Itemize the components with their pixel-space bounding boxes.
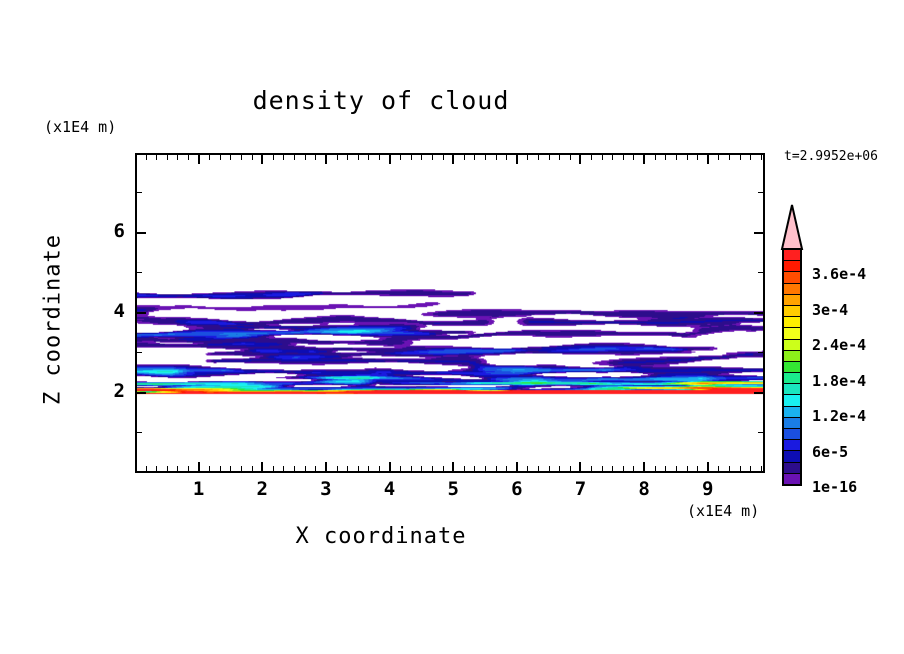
colorbar-band [784,384,800,395]
x-tick-label: 5 [441,478,465,500]
y-major-tick [136,232,146,234]
x-minor-tick [305,466,306,472]
x-minor-tick [729,466,730,472]
x-minor-tick [591,466,592,472]
x-major-tick [643,462,645,472]
colorbar-arrow-icon [778,203,806,251]
colorbar-band [784,373,800,384]
x-minor-tick [549,466,550,472]
x-major-tick-top [516,154,518,164]
figure-canvas: density of cloud (x1E4 m) t=2.9952e+06 1… [0,0,904,654]
x-minor-tick [347,466,348,472]
x-minor-tick-top [750,154,751,160]
x-minor-tick [167,466,168,472]
x-minor-tick [718,466,719,472]
x-minor-tick-top [400,154,401,160]
x-minor-tick-top [443,154,444,160]
x-minor-tick [623,466,624,472]
x-minor-tick-top [612,154,613,160]
x-minor-tick [527,466,528,472]
colorbar-band [784,429,800,440]
x-minor-tick [559,466,560,472]
colorbar-band [784,418,800,429]
x-minor-tick [464,466,465,472]
x-minor-tick-top [559,154,560,160]
time-annotation: t=2.9952e+06 [784,149,878,164]
x-minor-tick [602,466,603,472]
x-minor-tick-top [230,154,231,160]
y-axis-title: Z coordinate [41,205,66,435]
y-minor-tick-right [758,272,764,273]
colorbar-band [784,261,800,272]
x-minor-tick-top [729,154,730,160]
colorbar-bands [782,248,802,486]
colorbar-band [784,362,800,373]
y-tick-label: 2 [103,380,125,402]
x-minor-tick [687,466,688,472]
x-minor-tick-top [220,154,221,160]
x-minor-tick-top [358,154,359,160]
x-minor-tick [538,466,539,472]
x-major-tick-top [261,154,263,164]
plot-title: density of cloud [0,86,762,115]
x-minor-tick [443,466,444,472]
x-minor-tick-top [432,154,433,160]
colorbar[interactable] [778,203,806,486]
colorbar-band [784,295,800,306]
colorbar-band [784,407,800,418]
x-minor-tick-top [687,154,688,160]
y-minor-tick [136,432,142,433]
y-major-tick-right [754,392,764,394]
x-minor-tick-top [623,154,624,160]
colorbar-band [784,250,800,261]
x-major-tick-top [579,154,581,164]
x-minor-tick-top [273,154,274,160]
x-major-tick-top [452,154,454,164]
x-minor-tick-top [347,154,348,160]
x-minor-tick [506,466,507,472]
x-minor-tick-top [538,154,539,160]
y-minor-tick [136,352,142,353]
x-tick-label: 9 [696,478,720,500]
x-minor-tick [761,466,762,472]
y-minor-tick-right [758,352,764,353]
x-minor-tick [315,466,316,472]
colorbar-tick-label: 1e-16 [812,478,857,496]
x-minor-tick [368,466,369,472]
x-axis-title: X coordinate [0,524,762,549]
colorbar-tick-label: 1.2e-4 [812,407,866,425]
y-tick-label: 6 [103,220,125,242]
x-minor-tick [400,466,401,472]
x-tick-label: 1 [187,478,211,500]
x-minor-tick-top [527,154,528,160]
x-minor-tick-top [146,154,147,160]
x-minor-tick-top [665,154,666,160]
x-minor-tick-top [549,154,550,160]
x-minor-tick [294,466,295,472]
x-axis-unit-label: (x1E4 m) [687,502,759,520]
x-major-tick-top [198,154,200,164]
x-major-tick-top [643,154,645,164]
colorbar-band [784,328,800,339]
x-minor-tick [474,466,475,472]
x-minor-tick [358,466,359,472]
colorbar-tick-label: 2.4e-4 [812,336,866,354]
y-minor-tick [136,192,142,193]
x-tick-label: 6 [505,478,529,500]
x-minor-tick-top [496,154,497,160]
colorbar-band [784,351,800,362]
colorbar-band [784,272,800,283]
x-major-tick [452,462,454,472]
x-minor-tick-top [379,154,380,160]
x-minor-tick-top [655,154,656,160]
y-major-tick [136,392,146,394]
x-minor-tick-top [421,154,422,160]
x-major-tick [261,462,263,472]
colorbar-band [784,284,800,295]
x-major-tick [707,462,709,472]
x-minor-tick-top [305,154,306,160]
x-minor-tick [209,466,210,472]
y-axis-unit-label: (x1E4 m) [44,118,116,136]
x-major-tick [389,462,391,472]
x-minor-tick [676,466,677,472]
x-minor-tick [570,466,571,472]
x-minor-tick-top [167,154,168,160]
x-tick-label: 3 [314,478,338,500]
x-minor-tick [283,466,284,472]
x-minor-tick-top [411,154,412,160]
y-major-tick [136,312,146,314]
plot-area[interactable] [135,153,765,473]
colorbar-tick-label: 3e-4 [812,301,848,319]
x-minor-tick [379,466,380,472]
x-minor-tick-top [241,154,242,160]
x-minor-tick-top [209,154,210,160]
x-minor-tick-top [294,154,295,160]
x-minor-tick [750,466,751,472]
y-tick-label: 4 [103,300,125,322]
x-major-tick [579,462,581,472]
colorbar-band [784,451,800,462]
x-minor-tick-top [315,154,316,160]
x-minor-tick-top [740,154,741,160]
x-minor-tick-top [283,154,284,160]
x-minor-tick [241,466,242,472]
x-minor-tick [485,466,486,472]
x-minor-tick-top [697,154,698,160]
x-major-tick-top [389,154,391,164]
x-minor-tick [665,466,666,472]
contour-field [137,155,763,471]
x-minor-tick-top [368,154,369,160]
x-tick-label: 7 [568,478,592,500]
x-minor-tick [273,466,274,472]
x-minor-tick-top [156,154,157,160]
colorbar-tick-label: 6e-5 [812,443,848,461]
x-minor-tick-top [676,154,677,160]
x-minor-tick-top [474,154,475,160]
y-minor-tick-right [758,432,764,433]
x-minor-tick-top [602,154,603,160]
y-major-tick-right [754,232,764,234]
colorbar-band [784,340,800,351]
x-major-tick-top [325,154,327,164]
x-minor-tick-top [506,154,507,160]
x-minor-tick [220,466,221,472]
x-major-tick [198,462,200,472]
y-minor-tick [136,272,142,273]
x-minor-tick-top [591,154,592,160]
y-minor-tick-right [758,192,764,193]
colorbar-tick-label: 3.6e-4 [812,265,866,283]
x-minor-tick [655,466,656,472]
x-minor-tick-top [337,154,338,160]
x-minor-tick-top [570,154,571,160]
x-major-tick [325,462,327,472]
colorbar-band [784,440,800,451]
x-minor-tick-top [188,154,189,160]
x-minor-tick [156,466,157,472]
x-minor-tick-top [718,154,719,160]
x-tick-label: 2 [250,478,274,500]
x-minor-tick [337,466,338,472]
x-minor-tick [188,466,189,472]
y-major-tick-right [754,312,764,314]
x-minor-tick-top [464,154,465,160]
x-minor-tick-top [761,154,762,160]
colorbar-band [784,317,800,328]
x-minor-tick [612,466,613,472]
x-tick-label: 4 [378,478,402,500]
colorbar-band [784,474,800,484]
x-minor-tick [146,466,147,472]
x-major-tick [516,462,518,472]
x-minor-tick [177,466,178,472]
x-minor-tick-top [177,154,178,160]
x-minor-tick [252,466,253,472]
x-minor-tick [421,466,422,472]
colorbar-tick-label: 1.8e-4 [812,372,866,390]
x-minor-tick [432,466,433,472]
colorbar-band [784,306,800,317]
x-minor-tick-top [252,154,253,160]
x-tick-label: 8 [632,478,656,500]
colorbar-band [784,463,800,474]
x-minor-tick [411,466,412,472]
colorbar-band [784,395,800,406]
x-minor-tick [697,466,698,472]
x-minor-tick [740,466,741,472]
x-major-tick-top [707,154,709,164]
x-minor-tick-top [633,154,634,160]
x-minor-tick [230,466,231,472]
x-minor-tick [496,466,497,472]
x-minor-tick [633,466,634,472]
x-minor-tick-top [485,154,486,160]
